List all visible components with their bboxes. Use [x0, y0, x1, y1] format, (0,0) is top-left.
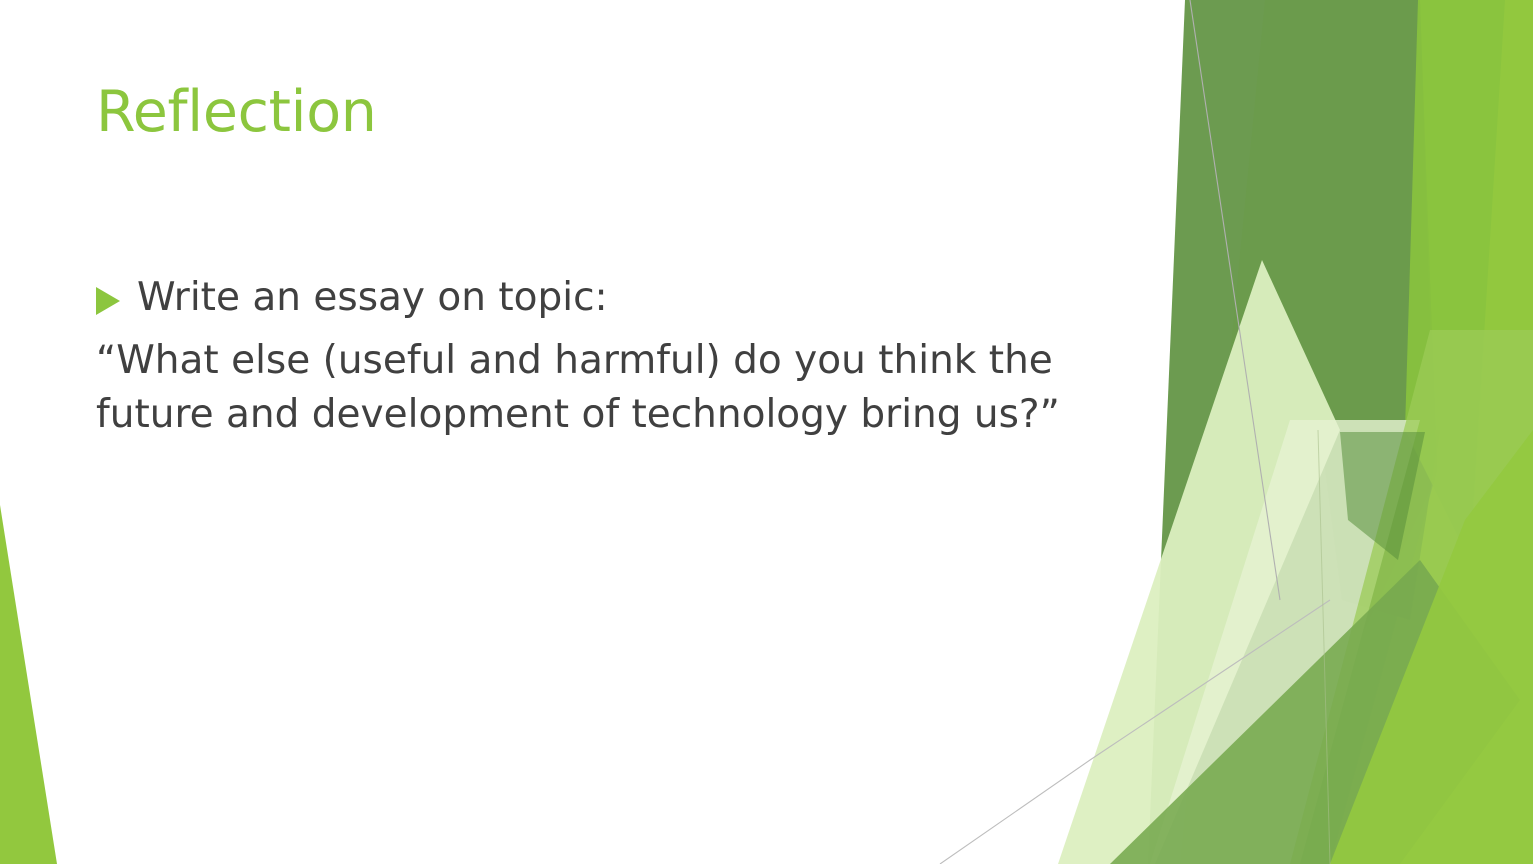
- triangle-bullet-icon: [96, 287, 120, 315]
- body-placeholder: Write an essay on topic: “What else (use…: [96, 275, 1106, 441]
- bullet-item-label: Write an essay on topic:: [137, 275, 608, 322]
- page-title: Reflection: [96, 80, 1096, 146]
- quote-paragraph: “What else (useful and harmful) do you t…: [96, 334, 1106, 442]
- slide-content: Reflection Write an essay on topic: “Wha…: [0, 0, 1533, 864]
- list-item: Write an essay on topic:: [96, 275, 1106, 322]
- presentation-slide: Reflection Write an essay on topic: “Wha…: [0, 0, 1533, 864]
